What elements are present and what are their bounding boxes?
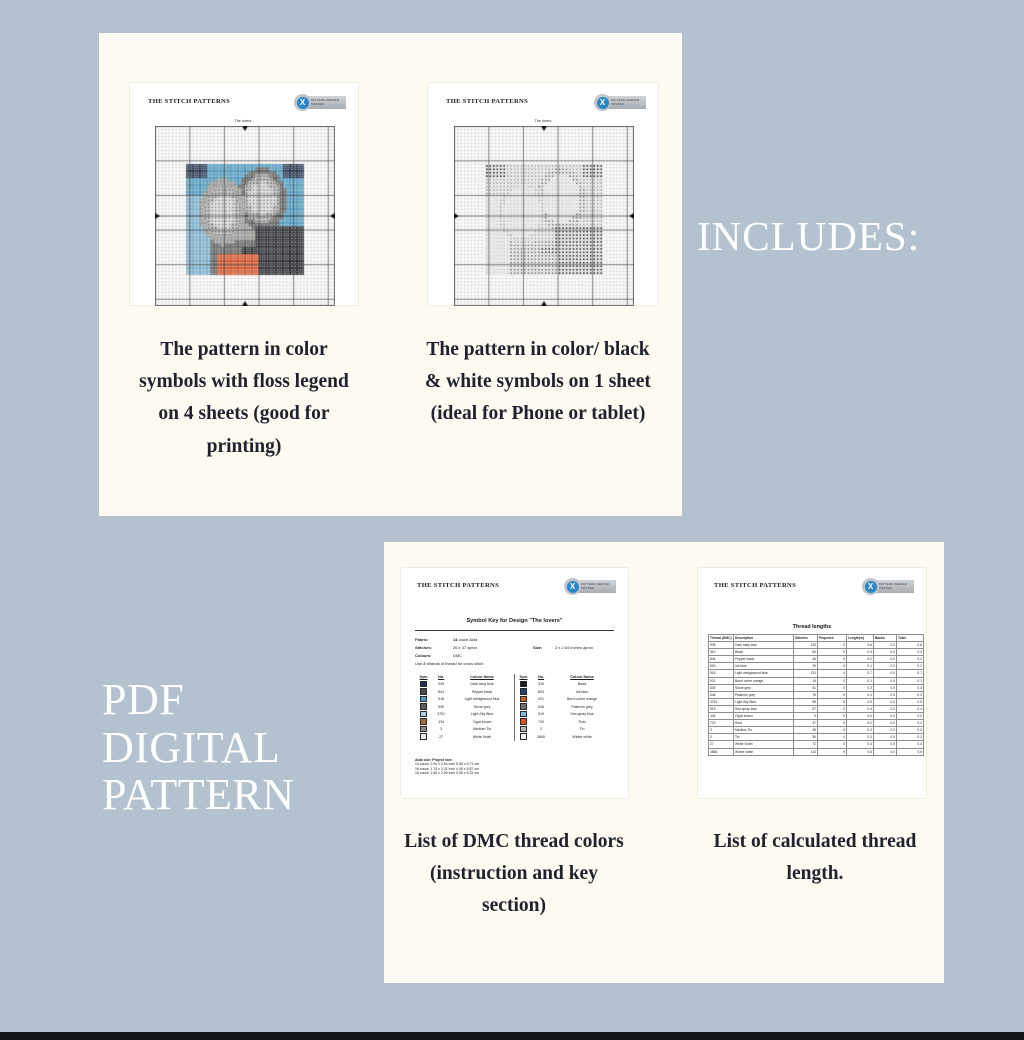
fabric-count: 14 [453,637,457,642]
colours-label: Colours: [415,654,431,658]
pattern-keeper-badge: X PATTERN KEEPER TESTED [564,578,616,595]
table-row: 844Pepper black803Ink blue [415,688,614,696]
sheet-brand-title: THE STITCH PATTERNS [446,98,528,105]
table-row: 535Stone grey5100.30.00.3 [709,684,924,691]
pdf-line-2: DIGITAL [102,724,295,772]
table-row: 939Dark navy blue310Black [415,681,614,689]
table-row: 518Light wedgewood blue13100.70.00.7 [709,670,924,677]
pattern-keeper-badge: X PATTERN KEEPER TESTED [594,94,646,111]
badge-line2: TESTED [311,102,339,106]
chart-title-label: The lovers [513,119,573,123]
table-row: 27White Violet7200.40.00.4 [709,741,924,748]
table-row: 310Black6600.30.00.3 [709,649,924,656]
fabric-label: Fabric: [415,638,428,642]
table-row: 434Cigar brown720Rust [415,718,614,726]
badge-x-icon: X [567,581,579,593]
badge-line2: TESTED [581,586,609,590]
size-value: 2 x 2.64 inches aprox [555,646,593,650]
pattern-keeper-badge: X PATTERN KEEPER TESTED [294,94,346,111]
stitches-row: Stitches: 26 x 37 aprox Size: 2 x 2.64 i… [415,646,615,654]
pdf-line-3: PATTERN [102,771,295,819]
size-label: Size: [533,646,542,650]
fabric-value: count Aida [459,637,478,642]
strands-post: strands of thread for cross stitch [427,661,484,666]
table-row: 803Ink blue2900.10.00.1 [709,663,924,670]
caption-thread-length: List of calculated thread length. [698,826,932,890]
caption-dmc-list: List of DMC thread colors (instruction a… [400,826,628,923]
table-row: 720Rust3700.20.00.2 [709,720,924,727]
table-row: 939Dark navy blue12500.60.00.6 [709,642,924,649]
bw-pattern-sheet[interactable]: THE STITCH PATTERNS X PATTERN KEEPER TES… [428,83,658,305]
symbol-key-title: Symbol Key for Design "The lovers" [401,618,628,624]
table-row: 2Tin3600.20.00.2 [709,734,924,741]
strands-row: Use 2 strands of thread for cross stitch [415,662,615,672]
table-row: 3865Winter white11000.60.00.6 [709,748,924,755]
caption-color-symbols: The pattern in color symbols with floss … [130,334,358,463]
thread-lengths-title: Thread lengths [698,624,926,630]
divider [415,630,614,631]
symbol-key-sheet[interactable]: THE STITCH PATTERNS X PATTERN KEEPER TES… [401,568,628,798]
chart-title-label: The lovers [213,119,273,123]
table-row: 519Sea spray blue8700.40.00.4 [709,705,924,712]
aida-line: 18 count: 1.56 x 2.60 inch 3.95 x 5.22 c… [415,771,479,775]
pdf-line-1: PDF [102,676,295,724]
includes-heading: INCLUDES: [697,216,920,257]
badge-disc-icon: X [564,578,581,595]
caption-bw-symbols: The pattern in color/ black & white symb… [424,334,652,431]
table-row: 27White Violet3865Winter white [415,733,614,741]
pdf-digital-pattern-heading: PDF DIGITAL PATTERN [102,676,295,819]
table-row: 3761Light Sky Blue519Sea spray blue [415,711,614,719]
table-row: 844Pepper black4600.20.00.2 [709,656,924,663]
table-row: 535Stone grey646Platinum grey [415,703,614,711]
table-row: 921Burnt ochre orange1900.10.00.1 [709,677,924,684]
badge-disc-icon: X [862,578,879,595]
thread-lengths-table: Thread (DMC)DescriptionStitchesPequniesL… [708,634,924,756]
symbol-key-table: SymNo.Colour NameSymNo.Colour Name939Dar… [415,674,614,741]
pattern-keeper-badge: X PATTERN KEEPER TESTED [862,578,914,595]
stitches-label: Stitches: [415,646,432,650]
table-row: 434Cigar brown900.00.00.0 [709,713,924,720]
strands-pre: Use [415,661,422,666]
bw-chart-grid[interactable] [454,126,634,306]
table-row: 3Medium Tin4800.20.00.2 [709,727,924,734]
sheet-brand-title: THE STITCH PATTERNS [417,582,499,589]
table-row: 646Platinum grey7600.40.00.4 [709,691,924,698]
aida-size-block: Aida size: Project size 14 count: 2.00 x… [415,758,479,776]
poster-canvas: THE STITCH PATTERNS X PATTERN KEEPER TES… [0,0,1024,1040]
badge-disc-icon: X [294,94,311,111]
badge-line2: TESTED [611,102,639,106]
badge-line2: TESTED [879,586,907,590]
sheet-brand-title: THE STITCH PATTERNS [148,98,230,105]
badge-x-icon: X [597,97,609,109]
table-row: 518Light wedgewood blue921Burnt ochre or… [415,696,614,704]
color-chart-grid[interactable] [155,126,335,306]
thread-lengths-sheet[interactable]: THE STITCH PATTERNS X PATTERN KEEPER TES… [698,568,926,798]
color-pattern-sheet[interactable]: THE STITCH PATTERNS X PATTERN KEEPER TES… [130,83,358,305]
stitches-value: 26 x 37 aprox [453,646,477,650]
strands-count: 2 [423,661,425,666]
table-row: 3761Light Sky Blue9800.50.00.5 [709,698,924,705]
colours-value: DMC [453,654,462,658]
table-row: 3Medium Tin2Tin [415,726,614,734]
badge-x-icon: X [297,97,309,109]
badge-x-icon: X [865,581,877,593]
bottom-bar [0,1032,1024,1040]
badge-disc-icon: X [594,94,611,111]
sheet-brand-title: THE STITCH PATTERNS [714,582,796,589]
